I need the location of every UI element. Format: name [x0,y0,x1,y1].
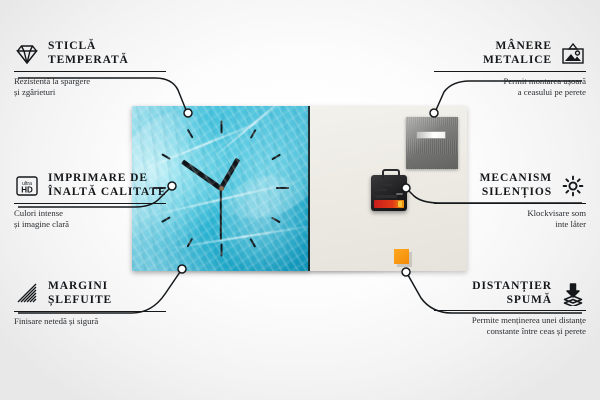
callout-title-line2: SPUMĂ [472,294,552,308]
mechanism-detail [376,189,387,191]
clock-tick [276,187,289,189]
arrow-down-onto-pad-icon [560,282,586,306]
gear-icon [560,174,586,198]
callout-sub-line1: Permit montarea ușoară [434,76,586,87]
mechanism-detail [375,195,397,198]
callout-sub-line1: Culori intense [14,208,166,219]
aa-battery [374,200,404,208]
ultra-hd-bottom-text: HD [21,185,33,194]
clock-second-hand [220,188,222,240]
callout-title-line2: ȘLEFUITE [48,294,112,308]
clock-tick [186,129,192,138]
clock-tick [271,216,280,222]
callout-title-line1: MARGINI [48,280,112,294]
feather-streak [163,223,321,250]
ultra-hd-badge-icon: ultra HD [14,174,40,198]
callout-sub-line2: constante între ceas și perete [434,326,586,337]
callout-title-line1: MÂNERE [483,40,552,54]
silent-quartz-mechanism [371,175,407,211]
callout-title-line1: MECANISM [480,172,552,186]
mechanism-detail [396,193,403,195]
callout-rule [434,310,586,311]
callout-rule [434,71,586,72]
callout-foam-spacer[interactable]: DISTANȚIER SPUMĂ Permite menținerea unei… [434,280,586,337]
callout-rule [14,311,166,312]
mechanism-hook [382,169,400,179]
feather-streak [133,116,273,174]
clock-tick [249,238,255,247]
callout-sub-line1: Rezistentă la spargere [14,76,166,87]
clock-tick [271,153,280,159]
callout-sub-line2: a ceasului pe perete [434,87,586,98]
callout-sub-line1: Finisare netedă și sigură [14,316,166,327]
infographic-canvas: STICLĂ TEMPERATĂ Rezistentă la spargere … [0,0,600,400]
callout-title-line2: ÎNALTĂ CALITATE [48,186,166,200]
callout-title-line1: IMPRIMARE DE [48,172,166,186]
callout-rule [14,203,166,204]
clock-center-hub [219,186,224,191]
clock-tick [162,153,171,159]
callout-title-line1: DISTANȚIER [472,280,552,294]
callout-sub-line2: și zgârieturi [14,87,166,98]
callout-metal-handles[interactable]: MÂNERE METALICE Permit montarea ușoară a… [434,40,586,98]
callout-title-line2: SILENȚIOS [480,186,552,200]
diamond-icon [14,42,40,66]
hatched-edge-icon [14,282,40,306]
callout-title-line1: STICLĂ [48,40,129,54]
callout-sub-line1: Klockvisare som [434,208,586,219]
callout-hd-printing[interactable]: ultra HD IMPRIMARE DE ÎNALTĂ CALITATE Cu… [14,172,166,230]
clock-minute-hand [181,159,222,190]
callout-sub-line2: inte låter [434,219,586,230]
clock-hour-hand [219,157,240,189]
callout-sub-line2: și imagine clară [14,219,166,230]
orange-foam-spacer [394,249,409,264]
callout-sub-line1: Permite menținerea unei distanțe [434,315,586,326]
callout-title-line2: TEMPERATĂ [48,54,129,68]
clock-tick [249,129,255,138]
callout-rule [434,203,586,204]
feather-highlight [184,88,324,218]
callout-polished-edges[interactable]: MARGINI ȘLEFUITE Finisare netedă și sigu… [14,280,166,327]
clock-tick [220,243,222,256]
mechanism-detail [376,184,393,186]
framed-picture-hanging-icon [560,42,586,66]
metal-hanger-plate [406,117,458,169]
callout-silent-mechanism[interactable]: MECANISM SILENȚIOS Klockvisare som inte … [434,172,586,230]
clock-tick [220,120,222,133]
callout-title-line2: METALICE [483,54,552,68]
clock-tick [186,238,192,247]
callout-rule [14,71,166,72]
hanger-slot [416,131,446,139]
callout-tempered-glass[interactable]: STICLĂ TEMPERATĂ Rezistentă la spargere … [14,40,166,98]
